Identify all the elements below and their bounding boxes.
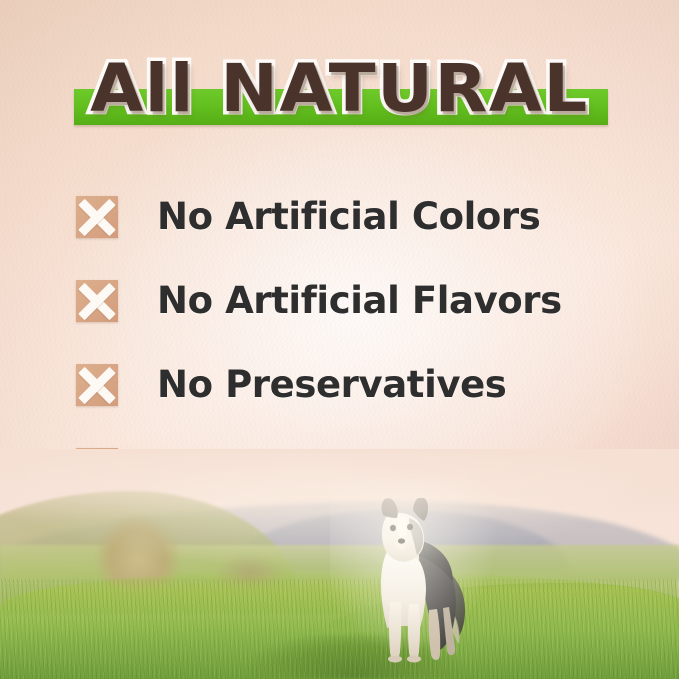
border-collie-dog: [355, 498, 473, 663]
grass-texture-overlay: [0, 579, 679, 679]
claim-label: No Artificial Colors: [157, 196, 540, 238]
list-item: No Artificial Flavors: [76, 259, 639, 343]
list-item: No Preservatives: [76, 343, 639, 427]
page-title: All NATURAL: [0, 46, 679, 132]
claim-label: No Artificial Flavors: [157, 280, 562, 322]
x-mark-icon: [76, 280, 118, 322]
list-item: No Artificial Colors: [76, 175, 639, 259]
headline-banner: All NATURAL: [0, 46, 679, 142]
claim-label: No Preservatives: [157, 364, 506, 406]
landscape-photo: [0, 449, 679, 679]
x-mark-icon: [76, 196, 118, 238]
x-mark-icon: [76, 364, 118, 406]
product-feature-graphic: All NATURAL No Artificial Colors No Arti…: [0, 0, 679, 679]
